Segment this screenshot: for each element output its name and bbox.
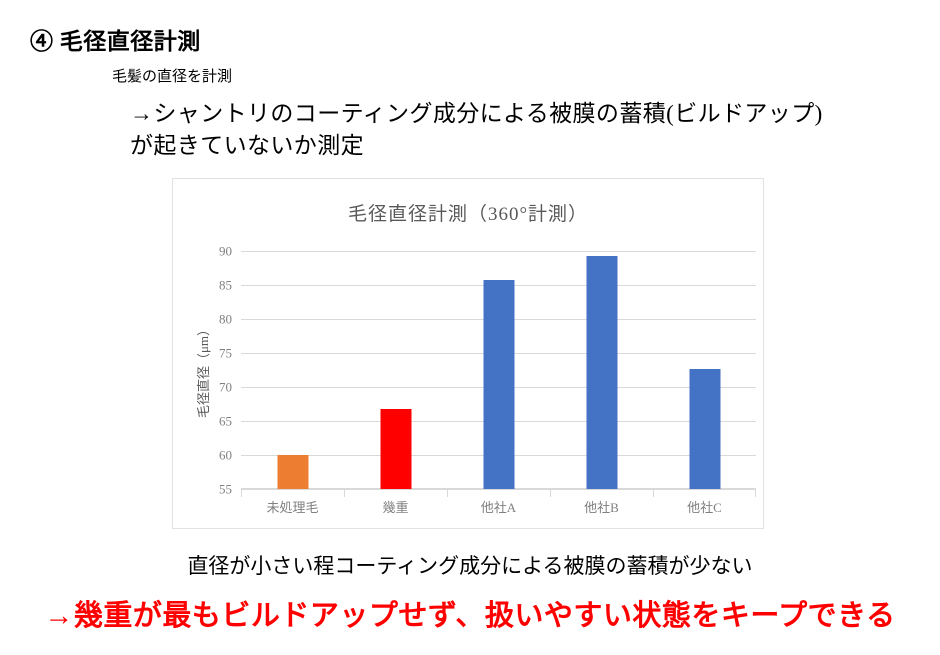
- bar-他社C[interactable]: [689, 369, 720, 489]
- category-label-幾重: 幾重: [344, 497, 447, 516]
- category-ticks: [241, 489, 756, 497]
- category-label-他社A: 他社A: [447, 497, 550, 516]
- y-axis-title-label: 毛径直径（μm）: [194, 322, 213, 417]
- slide-root: { "slide": { "heading": "④ 毛径直径計測", "sub…: [0, 0, 940, 655]
- y-tick-label: 90: [219, 245, 232, 258]
- subtitle-text: 毛髪の直径を計測: [112, 65, 232, 86]
- category-tick: [653, 489, 654, 497]
- category-label-他社B: 他社B: [550, 497, 653, 516]
- bars-layer: [241, 251, 756, 489]
- y-tick-label: 65: [219, 415, 232, 428]
- callout-block: →シャントリのコーティング成分による被膜の蓄積(ビルドアップ) が起きていないか…: [130, 98, 920, 161]
- bar-slot: [241, 251, 344, 489]
- category-label-他社C: 他社C: [653, 497, 756, 516]
- y-tick-label: 55: [219, 483, 232, 496]
- bar-slot: [447, 251, 550, 489]
- bar-slot: [653, 251, 756, 489]
- bar-他社A[interactable]: [483, 280, 514, 489]
- page-title: ④ 毛径直径計測: [30, 22, 201, 56]
- y-tick-label: 80: [219, 313, 232, 326]
- plot-area: 5560657075808590: [241, 251, 756, 489]
- category-tick: [241, 489, 242, 497]
- chart-container: 毛径直径計測（360°計測） 毛径直径（μm） 5560657075808590…: [172, 178, 764, 529]
- callout-line-1: →シャントリのコーティング成分による被膜の蓄積(ビルドアップ): [130, 98, 920, 130]
- category-labels: 未処理毛幾重他社A他社B他社C: [241, 497, 756, 521]
- bar-slot: [550, 251, 653, 489]
- category-tick: [550, 489, 551, 497]
- y-tick-label: 70: [219, 381, 232, 394]
- bar-他社B[interactable]: [586, 256, 617, 489]
- callout-line-2: が起きていないか測定: [130, 130, 920, 162]
- chart-title: 毛径直径計測（360°計測）: [173, 199, 763, 226]
- bar-未処理毛[interactable]: [277, 455, 308, 489]
- y-tick-label: 75: [219, 347, 232, 360]
- category-label-未処理毛: 未処理毛: [241, 497, 344, 516]
- category-tick: [755, 489, 756, 497]
- y-tick-label: 60: [219, 449, 232, 462]
- category-tick: [447, 489, 448, 497]
- bar-slot: [344, 251, 447, 489]
- conclusion-emphasis: →幾重が最もビルドアップせず、扱いやすい状態をキープできる: [0, 592, 940, 634]
- y-tick-label: 85: [219, 279, 232, 292]
- category-tick: [344, 489, 345, 497]
- y-axis-title: 毛径直径（μm）: [193, 251, 213, 489]
- bar-幾重[interactable]: [380, 409, 411, 489]
- conclusion-primary: 直径が小さい程コーティング成分による被膜の蓄積が少ない: [0, 550, 940, 580]
